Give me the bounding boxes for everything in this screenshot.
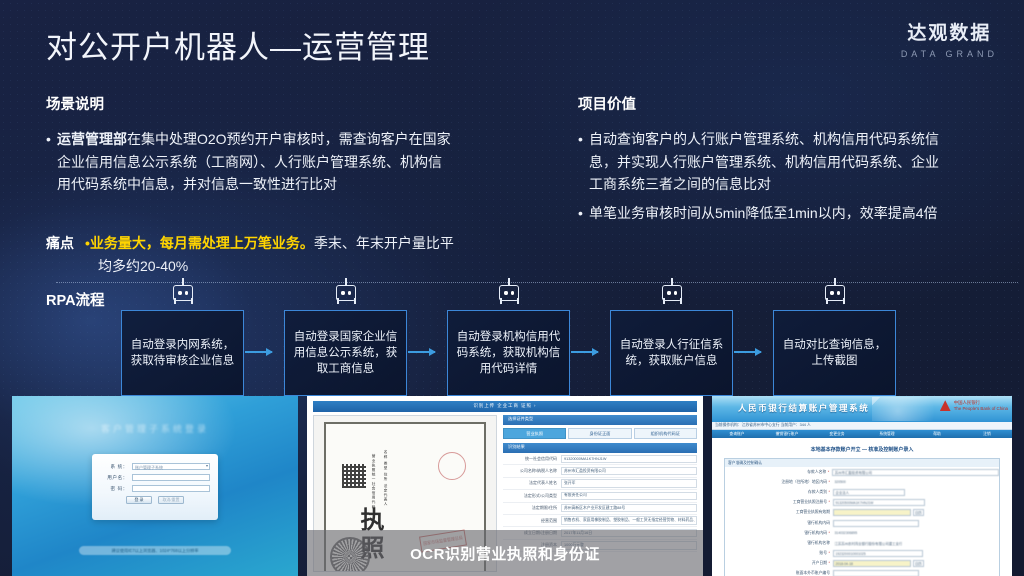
pain-label: 痛点 <box>46 235 74 251</box>
pboc-form-row: 注册地（住所地）地区内码* 320500 <box>725 477 999 487</box>
calendar-icon[interactable]: 日历 <box>913 509 924 516</box>
rpa-node-4[interactable]: 自动登录人行征信系统，获取账户信息 <box>610 310 733 396</box>
ocr-row: 法定期限/住所 苏州高新区木产业开发区建工路88号 <box>503 503 697 515</box>
ocr-row: 经营范围 销售农机、家庭用橡胶制品、塑胶制品、一般工贸无指定经营货物、材料药品、… <box>503 515 697 527</box>
pain-point-block: 痛点•业务量大，每月需处理上万笔业务。季末、年末开户量比平 均多约20-40% <box>46 232 586 277</box>
login-field-username: 用户名： <box>100 474 210 481</box>
ocr-row-label: 经营范围 <box>503 518 561 524</box>
pboc-row-label: 注册地（住所地）地区内码* <box>725 480 833 485</box>
arrow-right-icon <box>734 351 761 353</box>
arrow-right-icon <box>245 351 272 353</box>
pboc-breadcrumb: 当前操作机构：江苏省苏州市中心支行 当前用户：344 人 <box>712 422 1012 430</box>
pboc-form-body: 本地基本存款账户开立 — 核准及控制账户录入 客户准确及控制确认 存款人名称* … <box>712 438 1012 576</box>
pboc-row-label: 存款人类别* <box>725 490 833 495</box>
ocr-row-label: 法定代表人姓名 <box>503 480 561 486</box>
nav-item-logout[interactable]: 注销 <box>962 430 1012 438</box>
scene-bullet: • 运营管理部在集中处理O2O预约开户审核时，需查询客户在国家 企业信用信息公示… <box>46 128 566 196</box>
password-input[interactable] <box>132 485 210 492</box>
rpa-node-1-text: 自动登录内网系统，获取待审核企业信息 <box>129 337 236 370</box>
login-submit-button[interactable]: 登 录 <box>126 496 152 504</box>
login-label-password: 密 码： <box>100 486 128 492</box>
pboc-row-label: 银行机构内码* <box>725 531 833 536</box>
logo-chinese-text: 达观数据 <box>901 18 998 45</box>
pain-highlight-text: 业务量大，每月需处理上万笔业务。 <box>90 235 314 251</box>
pboc-row-value: 江苏苏州农村商业银行股份有限公司建工支行 <box>833 540 902 547</box>
value-bullet-2: • 单笔业务审核时间从5min降低至1min以内，效率提高4倍 <box>578 202 1008 225</box>
rpa-node-2-text: 自动登录国家企业信用信息公示系统，获取工商信息 <box>292 329 399 378</box>
scene-bold-lead: 运营管理部 <box>57 131 127 147</box>
nav-item-query-account[interactable]: 查询账户 <box>712 430 762 438</box>
login-button-row: 登 录 取消/重置 <box>100 496 210 504</box>
screenshot-caption-band: OCR识别营业执照和身份证 <box>307 530 703 576</box>
pboc-row-input[interactable]: 1923200010001025 <box>833 550 923 557</box>
screenshot-caption-text: OCR识别营业执照和身份证 <box>410 543 600 564</box>
pboc-form-row: 工商营业执照有效期 日历 <box>725 508 999 518</box>
rpa-node-5[interactable]: 自动对比查询信息，上传截图 <box>773 310 896 396</box>
value-b2-line1: 单笔业务审核时间从5min降低至1min以内，效率提高4倍 <box>589 202 1008 225</box>
username-input[interactable] <box>132 474 210 481</box>
bullet-marker-icon: • <box>578 202 589 225</box>
rpa-node-1[interactable]: 自动登录内网系统，获取待审核企业信息 <box>121 310 244 396</box>
pboc-form-row: 开户日期* 2018-04-18 日历 <box>725 559 999 569</box>
robot-icon <box>822 278 848 308</box>
ocr-doctype-tabs: 营业执照 身份证正面 组织机构代码证 <box>503 428 697 439</box>
pboc-row-input[interactable] <box>833 520 919 527</box>
screenshot-panel-pboc[interactable]: 人民币银行结算账户管理系统 中国人民银行The People's Bank of… <box>712 396 1012 576</box>
login-field-password: 密 码： <box>100 485 210 492</box>
pboc-header: 人民币银行结算账户管理系统 中国人民银行The People's Bank of… <box>712 396 1012 422</box>
pboc-form-title: 本地基本存款账户开立 — 核准及控制账户录入 <box>724 446 1000 453</box>
ocr-row-label: 统一社会信用代码 <box>503 456 561 462</box>
depositor-type-select[interactable]: 企业法人 <box>833 489 905 496</box>
rpa-section-label: RPA流程 <box>46 289 105 310</box>
login-field-system: 系 统： 账户管理子系统 <box>100 463 210 470</box>
project-value-block: 项目价值 • 自动查询客户的人行账户管理系统、机构信用代码系统信 息，并实现人行… <box>578 93 1008 225</box>
pboc-form-row: 存款人名称* 苏州市汇盈投资有限公司 <box>725 467 999 477</box>
bullet-marker-icon: • <box>578 128 589 196</box>
pboc-row-label: 银行机构内码 <box>725 521 833 526</box>
page-title: 对公开户机器人—运营管理 <box>46 22 430 67</box>
pboc-form-row: 账面本外币账户编号 <box>725 569 999 576</box>
brand-logo: 达观数据 DATA GRAND <box>901 18 998 59</box>
tab-id-front[interactable]: 身份证正面 <box>568 428 631 439</box>
license-seal-icon <box>438 452 466 480</box>
pboc-logo-icon <box>940 400 951 411</box>
value-b1-line3: 工商系统三者之间的信息比对 <box>589 176 771 192</box>
system-select-value: 账户管理子系统 <box>135 465 163 471</box>
rpa-flow-diagram: 自动登录内网系统，获取待审核企业信息 自动登录国家企业信用信息公示系统，获取工商… <box>112 282 1017 400</box>
license-qr-code <box>342 464 366 488</box>
robot-icon <box>659 278 685 308</box>
bullet-marker-icon: • <box>46 128 57 196</box>
pboc-row-input[interactable]: 苏州市汇盈投资有限公司 <box>832 469 999 476</box>
pboc-form-row: 银行机构内码* 314032306895 <box>725 528 999 538</box>
pboc-form-row: 银行机构内码 <box>725 518 999 528</box>
pboc-breadcrumb-text: 当前操作机构：江苏省苏州市中心支行 当前用户：344 人 <box>715 423 811 428</box>
rpa-node-2[interactable]: 自动登录国家企业信用信息公示系统，获取工商信息 <box>284 310 407 396</box>
pboc-row-label: 工商营业执照注册号* <box>725 500 833 505</box>
open-date-input[interactable]: 2018-04-18 <box>833 560 911 567</box>
pboc-row-label: 银行机构名称 <box>725 541 833 546</box>
login-form-card: 系 统： 账户管理子系统 用户名： 密 码： 登 录 取消/重置 <box>92 454 218 520</box>
ocr-results-title: 识别结果 <box>508 444 525 450</box>
scene-line3: 用代码系统中信息，并对信息一致性进行比对 <box>57 176 337 192</box>
value-bullet-1: • 自动查询客户的人行账户管理系统、机构信用代码系统信 息，并实现人行账户管理系… <box>578 128 1008 196</box>
calendar-icon[interactable]: 日历 <box>913 560 924 567</box>
pboc-system-title: 人民币银行结算账户管理系统 <box>738 402 869 414</box>
login-label-system: 系 统： <box>100 464 128 470</box>
tab-business-license[interactable]: 营业执照 <box>503 428 566 439</box>
scene-line1-rest: 在集中处理O2O预约开户审核时，需查询客户在国家 <box>127 131 451 147</box>
system-select[interactable]: 账户管理子系统 <box>132 463 210 470</box>
ocr-row-value[interactable]: 有限责任公司 <box>561 492 697 500</box>
robot-icon <box>170 278 196 308</box>
pboc-row-label: 账号* <box>725 551 833 556</box>
ocr-row: 公司名称/纳税人名称 苏州市汇盈投资有限公司 <box>503 465 697 477</box>
pboc-row-label: 开户日期* <box>725 561 833 566</box>
pboc-form-row: 银行机构名称 江苏苏州农村商业银行股份有限公司建工支行 <box>725 538 999 548</box>
ocr-row-value[interactable]: 91320000MA1K7HNJ1W <box>561 455 697 463</box>
ocr-row-value[interactable]: 苏州高新区木产业开发区建工路88号 <box>561 504 697 512</box>
logo-english-text: DATA GRAND <box>901 49 998 59</box>
login-reset-button[interactable]: 取消/重置 <box>158 496 184 504</box>
ocr-row: 统一社会信用代码 91320000MA1K7HNJ1W <box>503 453 697 465</box>
pboc-row-input[interactable] <box>833 509 911 516</box>
pboc-row-value: 320500 <box>833 479 846 486</box>
nav-item-cancel-account[interactable]: 撤销银行账户 <box>762 430 812 438</box>
ocr-row-label: 法定期限/住所 <box>503 505 561 511</box>
pboc-section-title: 客户准确及控制确认 <box>725 459 999 467</box>
tab-org-code[interactable]: 组织机构代码证 <box>634 428 697 439</box>
slide-root: 对公开户机器人—运营管理 达观数据 DATA GRAND 场景说明 • 运营管理… <box>0 0 1024 576</box>
login-system-title: 客户管理子系统登录 <box>101 422 209 435</box>
value-b1-line1: 自动查询客户的人行账户管理系统、机构信用代码系统信 <box>589 131 939 147</box>
nav-item-change-business[interactable]: 变更业务 <box>812 430 862 438</box>
ocr-row-label: 法定形式/公司类型 <box>503 493 561 499</box>
rpa-node-4-text: 自动登录人行征信系统，获取账户信息 <box>618 337 725 370</box>
value-heading: 项目价值 <box>578 93 1008 114</box>
login-browser-note: 建议使用IE7以上浏览器、1024*768以上分辨率 <box>79 546 231 555</box>
ocr-row: 法定形式/公司类型 有限责任公司 <box>503 490 697 502</box>
robot-icon <box>333 278 359 308</box>
arrow-right-icon <box>408 351 435 353</box>
pain-line-2: 均多约20-40% <box>98 255 586 278</box>
arrow-right-icon <box>571 351 598 353</box>
ocr-row-value[interactable]: 苏州市汇盈投资有限公司 <box>561 467 697 475</box>
nav-item-system-admin[interactable]: 系统管理 <box>862 430 912 438</box>
rpa-node-5-text: 自动对比查询信息，上传截图 <box>781 337 888 370</box>
ocr-titlebar-text: 识别上传 企业工商 证照 › <box>473 403 536 409</box>
pain-tail-text: 季末、年末开户量比平 <box>314 235 454 251</box>
scene-bullet-text: 运营管理部在集中处理O2O预约开户审核时，需查询客户在国家 企业信用信息公示系统… <box>57 128 566 196</box>
nav-item-help[interactable]: 帮助 <box>912 430 962 438</box>
ocr-row: 法定代表人姓名 张开军 <box>503 478 697 490</box>
scene-description-block: 场景说明 • 运营管理部在集中处理O2O预约开户审核时，需查询客户在国家 企业信… <box>46 93 566 196</box>
pboc-row-label: 工商营业执照有效期 <box>725 510 833 515</box>
pboc-form-row: 工商营业执照注册号* 91320500MA1K7HNJ1W <box>725 498 999 508</box>
pboc-form-row: 账号* 1923200010001025 <box>725 549 999 559</box>
rpa-node-3-text: 自动登录机构信用代码系统，获取机构信用代码详情 <box>455 329 562 378</box>
robot-icon <box>496 278 522 308</box>
ocr-doctype-title: 选择证件类型 <box>508 416 533 422</box>
pboc-row-value: 314032306895 <box>833 530 857 537</box>
login-label-username: 用户名： <box>100 475 128 481</box>
pboc-row-input[interactable] <box>833 570 919 576</box>
pboc-form-row: 存款人类别* 企业法人 <box>725 487 999 497</box>
ocr-results-bar: 识别结果 <box>503 443 697 453</box>
ocr-doctype-bar: 选择证件类型 <box>503 415 697 425</box>
rpa-node-3[interactable]: 自动登录机构信用代码系统，获取机构信用代码详情 <box>447 310 570 396</box>
pain-line-1: 痛点•业务量大，每月需处理上万笔业务。季末、年末开户量比平 <box>46 232 586 255</box>
screenshot-panel-login[interactable]: 客户管理子系统登录 系 统： 账户管理子系统 用户名： 密 码： 登 录 取消/… <box>12 396 298 576</box>
ocr-row-value[interactable]: 销售农机、家庭用橡胶制品、塑胶制品、一般工贸无指定经营货物、材料药品、五金/电器… <box>561 516 697 524</box>
scene-heading: 场景说明 <box>46 93 566 114</box>
ocr-row-label: 公司名称/纳税人名称 <box>503 468 561 474</box>
pboc-row-input[interactable]: 91320500MA1K7HNJ1W <box>833 499 925 506</box>
pboc-nav-bar: 查询账户 撤销银行账户 变更业务 系统管理 帮助 注销 <box>712 430 1012 438</box>
pboc-logo: 中国人民银行The People's Bank of China <box>940 400 1008 411</box>
pboc-row-label: 存款人名称* <box>725 470 832 475</box>
ocr-titlebar: 识别上传 企业工商 证照 › <box>313 401 697 412</box>
pboc-row-label: 账面本外币账户编号 <box>725 571 833 576</box>
pboc-form-panel: 客户准确及控制确认 存款人名称* 苏州市汇盈投资有限公司 注册地（住所地）地区内… <box>724 458 1000 576</box>
ocr-row-value[interactable]: 张开军 <box>561 479 697 487</box>
scene-line2: 企业信用信息公示系统（工商网）、人行账户管理系统、机构信 <box>57 154 442 170</box>
pboc-logo-text: 中国人民银行The People's Bank of China <box>954 400 1008 411</box>
value-b1-line2: 息，并实现人行账户管理系统、机构信用代码系统、企业 <box>589 154 939 170</box>
